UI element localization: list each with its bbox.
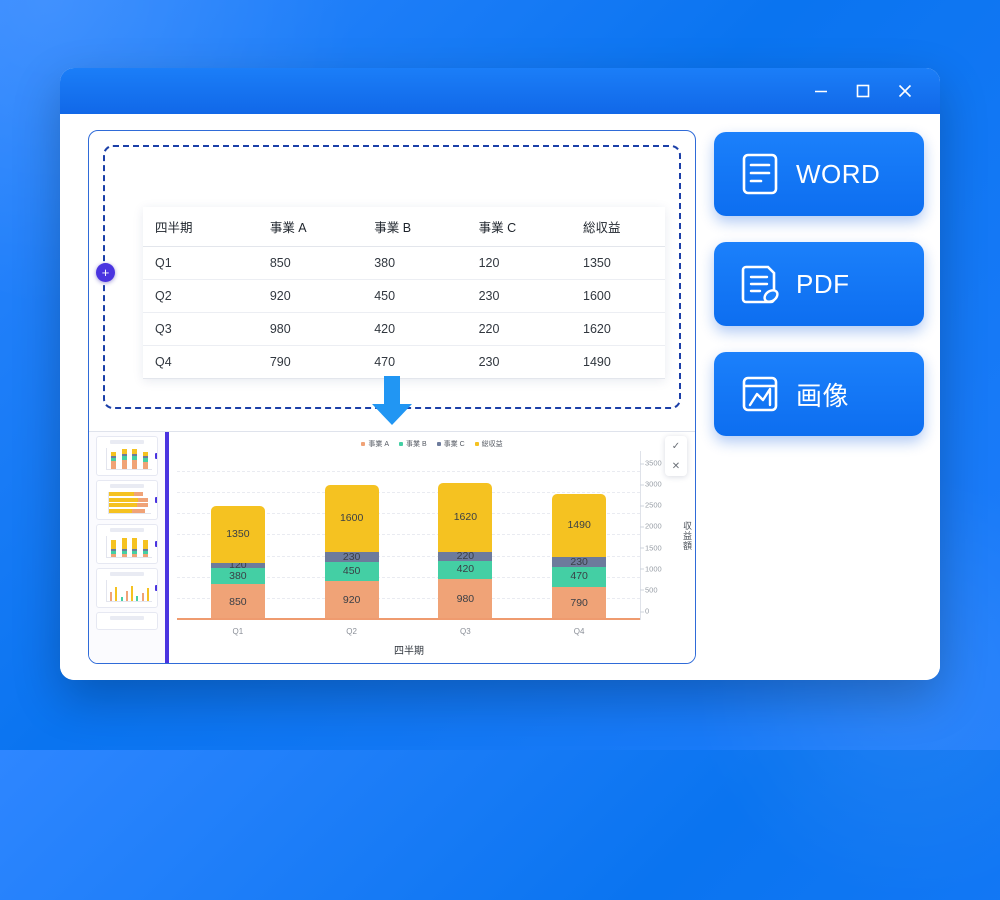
legend-item: 事業 A [361,439,389,449]
thumb-marker [155,541,158,547]
thumb-plot [106,448,152,470]
export-button-label: WORD [796,159,880,190]
chart-bar-segment: 450 [325,562,379,581]
thumb-partial[interactable] [96,612,158,630]
chart-bar-segment: 1600 [325,485,379,553]
table-header-cell: 事業 A [258,207,362,247]
image-icon [740,372,780,416]
content-card: + 四半期 事業 A 事業 B 事業 C 総収益 [88,130,696,664]
app-window: + 四半期 事業 A 事業 B 事業 C 総収益 [60,68,940,680]
chart-y-axis: 収益額 0500100015002000250030003500 [640,451,695,620]
table-cell: 470 [362,346,466,379]
table-cell: 1350 [571,247,665,280]
chart-plot: 1350120380850160023045092016202204209801… [177,451,640,642]
chart-preview: ✓ ✕ 事業 A 事業 B [167,432,695,663]
chart-y-tick: 500 [645,585,658,594]
convert-arrow-icon [366,376,418,431]
chart-x-ticks: Q1Q2Q3Q4 [183,627,634,636]
table-cell: 230 [467,346,571,379]
export-button-label: PDF [796,269,850,300]
thumb-plot [106,580,152,602]
thumb-title-placeholder [110,528,144,532]
chart-x-axis-label: 四半期 [123,642,695,663]
legend-swatch-icon [475,442,479,446]
thumb-title-placeholder [110,484,144,488]
chart-bar-segment: 790 [552,587,606,620]
table-cell: Q1 [143,247,258,280]
title-bar [60,68,940,114]
chart-y-tick: 2000 [645,522,662,531]
export-image-button[interactable]: 画像 [714,352,924,436]
thumb-grouped-bar[interactable] [96,568,158,608]
table-cell: Q3 [143,313,258,346]
close-button[interactable] [888,76,922,106]
chart-y-tick: 1500 [645,543,662,552]
chart-bar-segment: 920 [325,581,379,620]
thumb-title-placeholder [110,572,144,576]
thumb-marker [155,497,158,503]
thumb-stacked-bar-2[interactable] [96,524,158,564]
table-header-cell: 総収益 [571,207,665,247]
window-body: + 四半期 事業 A 事業 B 事業 C 総収益 [60,114,940,680]
table-cell: 920 [258,280,362,313]
chart-y-tick: 1000 [645,564,662,573]
chart-bar-segment: 1350 [211,506,265,563]
table-cell: Q4 [143,346,258,379]
chart-bar-segment: 1490 [552,494,606,557]
chart-bars: 1350120380850160023045092016202204209801… [183,451,634,620]
chart-bar-column: 1620220420980 [438,451,492,620]
thumb-plot [108,492,151,514]
table-cell: 790 [258,346,362,379]
table-cell: 980 [258,313,362,346]
chart-x-tick: Q4 [552,627,606,636]
table-header-cell: 事業 B [362,207,466,247]
chart-y-tick: 2500 [645,501,662,510]
thumb-title-placeholder [110,616,144,620]
chart-bar-column: 1350120380850 [211,451,265,620]
chart-y-tick: 3000 [645,480,662,489]
chart-bar-segment: 230 [325,552,379,562]
minimize-button[interactable] [804,76,838,106]
table-header-row: 四半期 事業 A 事業 B 事業 C 総収益 [143,207,665,247]
cancel-button[interactable]: ✕ [665,456,687,476]
table-row: Q3 980 420 220 1620 [143,313,665,346]
table-header-cell: 四半期 [143,207,258,247]
chart-y-tick: 3500 [645,459,662,468]
thumb-horizontal-bar[interactable] [96,480,158,520]
legend-label: 事業 A [368,439,389,449]
chart-bar-segment: 220 [438,552,492,561]
table-cell: 380 [362,247,466,280]
chart-bar-column: 1600230450920 [325,451,379,620]
table-row: Q1 850 380 120 1350 [143,247,665,280]
data-table: 四半期 事業 A 事業 B 事業 C 総収益 Q1 850 38 [143,207,665,379]
chart-bar-segment: 230 [552,557,606,567]
legend-swatch-icon [437,442,441,446]
chart-x-tick: Q3 [438,627,492,636]
chart-bar-segment: 420 [438,561,492,579]
add-row-button[interactable]: + [96,263,115,282]
table-cell: 450 [362,280,466,313]
chart-bar-column: 1490230470790 [552,451,606,620]
chart-y-tick: 0 [645,607,649,616]
chart-baseline [177,618,640,620]
table-cell: 120 [467,247,571,280]
table-cell: 850 [258,247,362,280]
legend-item: 事業 C [437,439,465,449]
table-row: Q2 920 450 230 1600 [143,280,665,313]
table-header-cell: 事業 C [467,207,571,247]
legend-label: 事業 B [406,439,427,449]
table-cell: 420 [362,313,466,346]
export-options: WORD PDF [714,130,924,664]
table-cell: 1600 [571,280,665,313]
export-word-button[interactable]: WORD [714,132,924,216]
thumb-title-placeholder [110,440,144,444]
chart-bar-segment: 1620 [438,483,492,552]
table-cell: 1620 [571,313,665,346]
chart-plot-host: 1350120380850160023045092016202204209801… [169,451,695,642]
table-row: Q4 790 470 230 1490 [143,346,665,379]
thumb-stacked-bar-1[interactable] [96,436,158,476]
table-cell: 1490 [571,346,665,379]
legend-swatch-icon [361,442,365,446]
legend-item: 事業 B [399,439,427,449]
thumb-marker [155,585,158,591]
chart-bar-segment: 470 [552,567,606,587]
chart-panel: ✓ ✕ 事業 A 事業 B [89,431,695,663]
chart-y-axis-label: 収益額 [681,521,694,551]
word-document-icon [740,152,780,196]
export-button-label: 画像 [796,376,849,413]
chart-x-tick: Q2 [325,627,379,636]
pdf-document-icon [740,262,780,306]
chart-mini-toolbar[interactable]: ✓ ✕ [665,436,687,476]
legend-label: 総収益 [482,439,503,449]
chart-thumbnail-strip[interactable] [89,432,167,663]
maximize-button[interactable] [846,76,880,106]
chart-x-tick: Q1 [211,627,265,636]
confirm-button[interactable]: ✓ [665,436,687,456]
legend-item: 総収益 [475,439,503,449]
data-table-container: 四半期 事業 A 事業 B 事業 C 総収益 Q1 850 38 [143,207,665,379]
table-cell: Q2 [143,280,258,313]
drop-zone[interactable]: + 四半期 事業 A 事業 B 事業 C 総収益 [103,145,681,409]
export-pdf-button[interactable]: PDF [714,242,924,326]
table-cell: 220 [467,313,571,346]
legend-label: 事業 C [444,439,465,449]
chart-legend: 事業 A 事業 B 事業 C 総収益 [169,436,695,451]
table-cell: 230 [467,280,571,313]
chart-bar-segment: 980 [438,579,492,620]
legend-swatch-icon [399,442,403,446]
chart-bar-segment: 380 [211,568,265,584]
chart-bar-segment: 850 [211,584,265,620]
thumb-plot [106,536,152,558]
thumb-marker [155,453,158,459]
